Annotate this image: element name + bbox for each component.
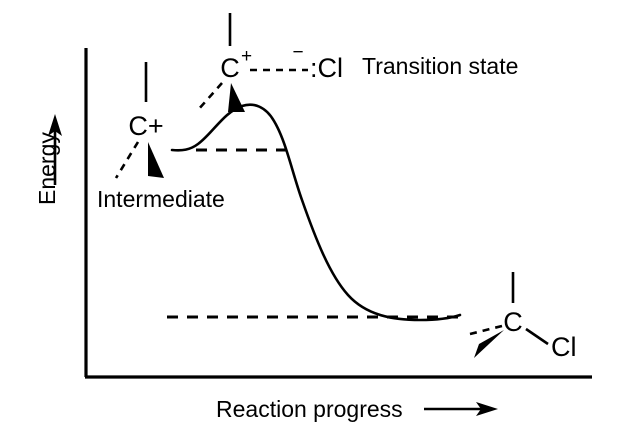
transition-state-bond-wedge-down: [228, 83, 245, 112]
transition-state-caption: Transition state: [362, 53, 518, 79]
diagram-canvas: Energy Reaction progress C+: [0, 0, 625, 440]
product-chlorine-label: Cl: [551, 332, 577, 362]
transition-state-carbon-charge: +: [241, 46, 252, 67]
product-bond-hash-left: [466, 326, 502, 335]
product-atom-label: C: [503, 307, 523, 337]
chloride-charge-label: −: [292, 42, 303, 63]
product-bond-to-chlorine: [526, 329, 548, 344]
product-structure-group: C Cl: [466, 272, 577, 362]
intermediate-atom-label: C+: [128, 111, 163, 141]
x-axis-label-group: Reaction progress: [216, 396, 498, 422]
y-axis-label: Energy: [34, 132, 60, 205]
intermediate-caption: Intermediate: [97, 186, 225, 212]
reaction-coordinate-curve-group: [172, 105, 460, 320]
energy-curve-path: [172, 105, 460, 320]
intermediate-bond-hash-down-left: [116, 142, 138, 178]
energy-diagram-figure: Energy Reaction progress C+: [0, 0, 625, 440]
chlorine-lone-pair: :: [310, 53, 318, 83]
intermediate-bond-wedge-down-right: [148, 142, 164, 178]
chlorine-atom-label: Cl: [318, 53, 344, 83]
product-bond-wedge-down-left: [474, 330, 504, 358]
transition-state-structure-group: C + − :Cl Transition state: [198, 13, 518, 112]
y-axis-label-group: Energy: [34, 114, 62, 205]
x-axis-label: Reaction progress: [216, 396, 403, 422]
transition-state-bond-hash-down-left: [198, 83, 222, 110]
transition-state-chlorine-label: :Cl: [310, 53, 343, 83]
transition-state-atom-label: C: [220, 53, 240, 83]
